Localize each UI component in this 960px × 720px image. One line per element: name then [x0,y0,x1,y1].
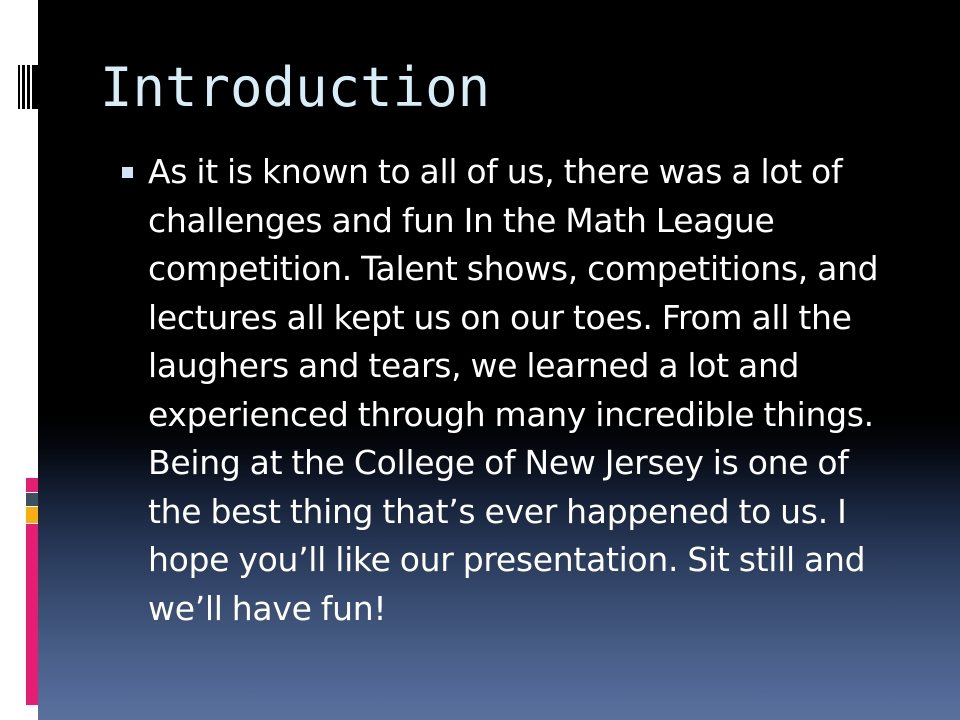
square-bullet-icon [122,167,133,178]
accent-chip-amber [26,507,38,523]
barcode-icon [18,65,38,109]
accent-chip-slate [26,493,38,506]
bullet-paragraph: As it is known to all of us, there was a… [148,148,910,633]
barcode-bar-4 [32,65,38,109]
barcode-bar-2 [22,65,25,109]
barcode-bar-3 [27,65,30,109]
accent-chip-pink [26,478,38,492]
barcode-bar-1 [18,65,20,109]
bullet-item: As it is known to all of us, there was a… [120,148,910,633]
accent-bar-magenta [26,524,38,705]
slide-body: As it is known to all of us, there was a… [120,148,910,633]
slide-title: Introduction [100,56,920,120]
presentation-slide: Introduction As it is known to all of us… [0,0,960,720]
